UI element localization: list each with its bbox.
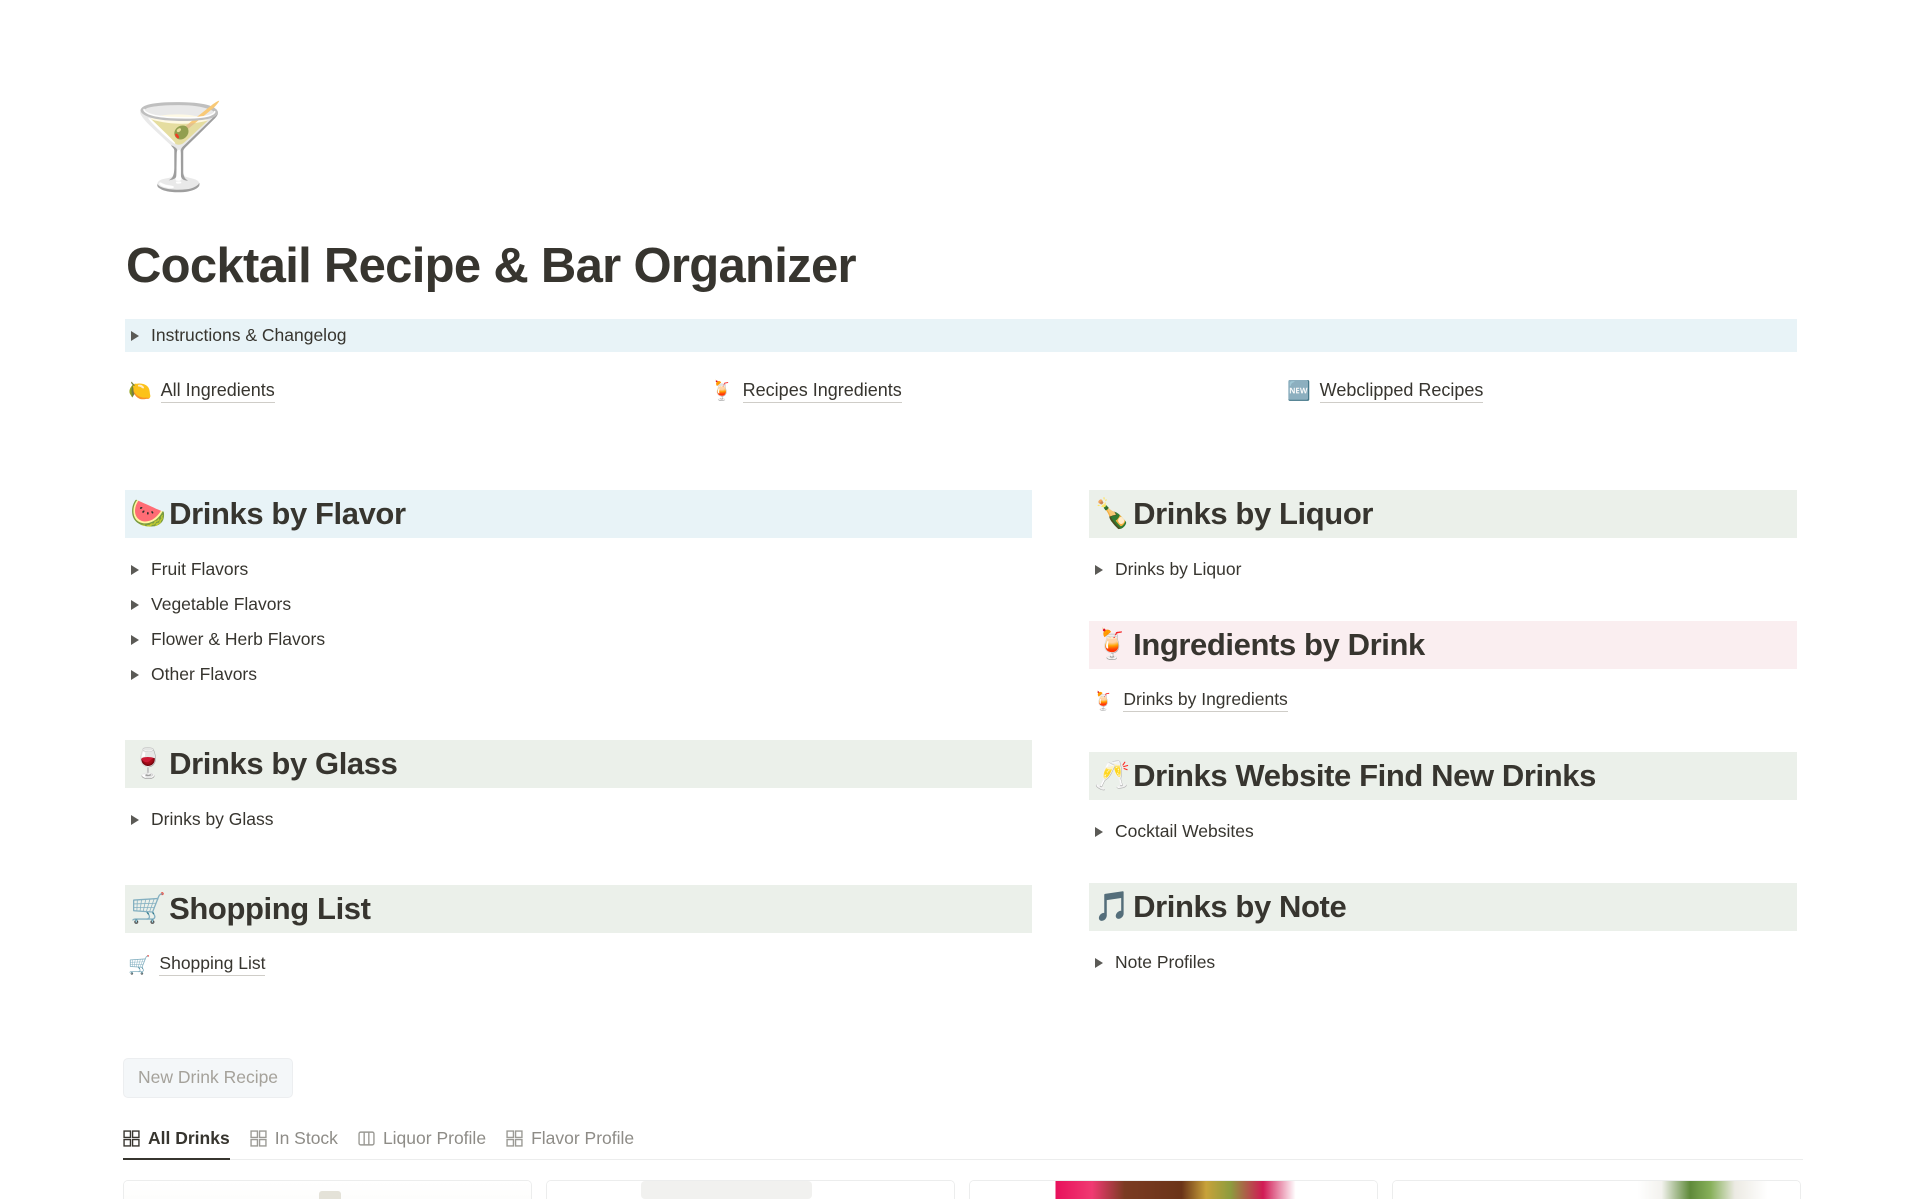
right-column: 🍾 Drinks by Liquor Drinks by Liquor 🍹 In… <box>1089 490 1797 980</box>
section-drinks-by-flavor: 🍉 Drinks by Flavor Fruit Flavors Vegetab… <box>125 490 1032 692</box>
section-header: 🥂 Drinks Website Find New Drinks <box>1089 752 1797 800</box>
top-links-row: 🍋 All Ingredients 🍹 Recipes Ingredients … <box>128 380 1800 412</box>
watermelon-icon: 🍉 <box>130 500 166 529</box>
tropical-drink-icon: 🍹 <box>1094 631 1130 660</box>
toggle-label: Drinks by Glass <box>151 809 274 830</box>
section-header: 🍾 Drinks by Liquor <box>1089 490 1797 538</box>
shopping-cart-icon: 🛒 <box>128 956 150 974</box>
tropical-drink-icon: 🍹 <box>1092 692 1114 710</box>
chevron-right-icon[interactable] <box>1095 827 1103 837</box>
toggle-vegetable-flavors[interactable]: Vegetable Flavors <box>125 587 1032 622</box>
link-webclipped-recipes[interactable]: 🆕 Webclipped Recipes <box>1287 380 1483 403</box>
chevron-right-icon[interactable] <box>131 565 139 575</box>
drink-cards-gallery <box>123 1180 1807 1199</box>
section-heading: Drinks by Liquor <box>1133 496 1373 532</box>
section-ingredients-by-drink: 🍹 Ingredients by Drink 🍹 Drinks by Ingre… <box>1089 621 1797 718</box>
section-drinks-by-liquor: 🍾 Drinks by Liquor Drinks by Liquor <box>1089 490 1797 587</box>
chevron-right-icon[interactable] <box>1095 565 1103 575</box>
tab-label: In Stock <box>275 1128 338 1149</box>
page-icon[interactable]: 🍸 <box>128 100 224 196</box>
card-thumbnail <box>1393 1181 1800 1199</box>
drink-card-3[interactable] <box>969 1180 1378 1199</box>
toggle-label: Note Profiles <box>1115 952 1215 973</box>
link-all-ingredients[interactable]: 🍋 All Ingredients <box>128 380 275 403</box>
chevron-right-icon[interactable] <box>131 815 139 825</box>
toggle-label: Drinks by Liquor <box>1115 559 1241 580</box>
chevron-right-icon[interactable] <box>131 670 139 680</box>
toggle-label: Fruit Flavors <box>151 559 248 580</box>
section-heading: Drinks by Glass <box>169 746 397 782</box>
musical-note-icon: 🎵 <box>1094 893 1130 922</box>
page-title: Cocktail Recipe & Bar Organizer <box>126 238 856 294</box>
toggle-drinks-by-liquor[interactable]: Drinks by Liquor <box>1089 552 1797 587</box>
new-drink-recipe-button[interactable]: New Drink Recipe <box>123 1058 293 1098</box>
gallery-icon <box>123 1130 140 1147</box>
wine-glass-icon: 🍷 <box>130 750 166 779</box>
toggle-other-flavors[interactable]: Other Flavors <box>125 657 1032 692</box>
tab-in-stock[interactable]: In Stock <box>250 1128 338 1159</box>
toggle-label: Instructions & Changelog <box>151 325 347 346</box>
toggle-label: Vegetable Flavors <box>151 594 291 615</box>
chevron-right-icon[interactable] <box>131 600 139 610</box>
card-thumbnail <box>124 1181 531 1199</box>
section-drinks-by-note: 🎵 Drinks by Note Note Profiles <box>1089 883 1797 980</box>
drink-card-2[interactable] <box>546 1180 955 1199</box>
toggle-cocktail-websites[interactable]: Cocktail Websites <box>1089 814 1797 849</box>
toggle-fruit-flavors[interactable]: Fruit Flavors <box>125 552 1032 587</box>
toggle-drinks-by-glass[interactable]: Drinks by Glass <box>125 802 1032 837</box>
section-shopping-list: 🛒 Shopping List 🛒 Shopping List <box>125 885 1032 982</box>
tab-flavor-profile[interactable]: Flavor Profile <box>506 1128 634 1159</box>
section-heading: Shopping List <box>169 891 370 927</box>
tab-label: All Drinks <box>148 1128 230 1149</box>
drink-card-1[interactable] <box>123 1180 532 1199</box>
tab-label: Liquor Profile <box>383 1128 486 1149</box>
toggle-label: Flower & Herb Flavors <box>151 629 325 650</box>
link-shopping-list[interactable]: 🛒 Shopping List <box>125 947 1032 982</box>
link-label: Shopping List <box>159 953 265 976</box>
toggle-label: Other Flavors <box>151 664 257 685</box>
section-drinks-website-find-new-drinks: 🥂 Drinks Website Find New Drinks Cocktai… <box>1089 752 1797 849</box>
champagne-bottle-icon: 🍾 <box>1094 500 1130 529</box>
section-heading: Drinks by Note <box>1133 889 1346 925</box>
section-header: 🍉 Drinks by Flavor <box>125 490 1032 538</box>
chevron-right-icon[interactable] <box>1095 958 1103 968</box>
drinks-database: New Drink Recipe All Drinks In <box>123 1058 1803 1160</box>
tab-label: Flavor Profile <box>531 1128 634 1149</box>
chevron-right-icon[interactable] <box>131 331 139 341</box>
board-icon <box>358 1130 375 1147</box>
lemon-icon: 🍋 <box>128 382 152 401</box>
section-header: 🍷 Drinks by Glass <box>125 740 1032 788</box>
section-heading: Ingredients by Drink <box>1133 627 1425 663</box>
section-heading: Drinks by Flavor <box>169 496 406 532</box>
section-header: 🛒 Shopping List <box>125 885 1032 933</box>
drink-card-4[interactable] <box>1392 1180 1801 1199</box>
link-label: All Ingredients <box>161 380 275 403</box>
link-label: Webclipped Recipes <box>1320 380 1484 403</box>
clinking-glasses-icon: 🥂 <box>1094 762 1130 791</box>
tab-all-drinks[interactable]: All Drinks <box>123 1128 230 1159</box>
link-label: Drinks by Ingredients <box>1123 689 1287 712</box>
new-badge-icon: 🆕 <box>1287 382 1311 401</box>
link-drinks-by-ingredients[interactable]: 🍹 Drinks by Ingredients <box>1089 683 1797 718</box>
gallery-icon <box>506 1130 523 1147</box>
toggle-flower-herb-flavors[interactable]: Flower & Herb Flavors <box>125 622 1032 657</box>
card-thumbnail <box>547 1181 954 1199</box>
left-column: 🍉 Drinks by Flavor Fruit Flavors Vegetab… <box>125 490 1032 982</box>
toggle-label: Cocktail Websites <box>1115 821 1254 842</box>
gallery-icon <box>250 1130 267 1147</box>
toggle-note-profiles[interactable]: Note Profiles <box>1089 945 1797 980</box>
instructions-changelog-toggle[interactable]: Instructions & Changelog <box>125 319 1797 352</box>
link-label: Recipes Ingredients <box>743 380 902 403</box>
section-header: 🍹 Ingredients by Drink <box>1089 621 1797 669</box>
database-view-tabs: All Drinks In Stock Liquor Profile <box>123 1118 1803 1160</box>
card-thumbnail <box>970 1181 1377 1199</box>
section-header: 🎵 Drinks by Note <box>1089 883 1797 931</box>
tab-liquor-profile[interactable]: Liquor Profile <box>358 1128 486 1159</box>
chevron-right-icon[interactable] <box>131 635 139 645</box>
link-recipes-ingredients[interactable]: 🍹 Recipes Ingredients <box>710 380 902 403</box>
shopping-cart-icon: 🛒 <box>130 895 166 924</box>
section-heading: Drinks Website Find New Drinks <box>1133 758 1596 794</box>
tropical-drink-icon: 🍹 <box>710 382 734 401</box>
notion-page: 🍸 Cocktail Recipe & Bar Organizer Instru… <box>0 0 1920 1199</box>
section-drinks-by-glass: 🍷 Drinks by Glass Drinks by Glass <box>125 740 1032 837</box>
